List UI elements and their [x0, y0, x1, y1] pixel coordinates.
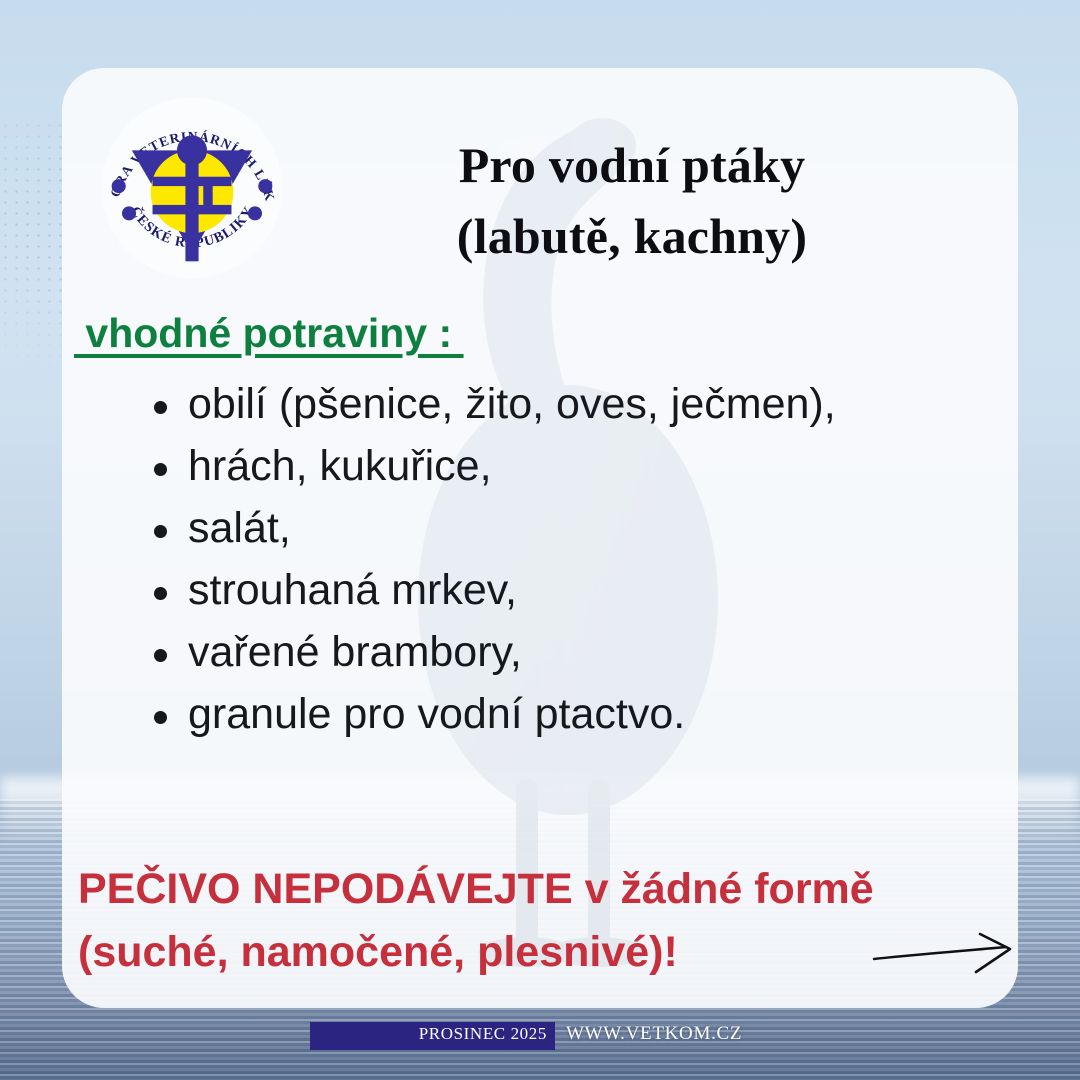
- list-item: hrách, kukuřice,: [102, 435, 982, 497]
- list-item: salát,: [102, 497, 982, 559]
- warning-line-2: (suché, namočené, plesnivé)!: [78, 921, 978, 984]
- section-heading-suitable-foods: vhodné potraviny :: [74, 310, 464, 357]
- list-item: vařené brambory,: [102, 621, 982, 683]
- title-line-2: (labutě, kachny): [312, 201, 952, 272]
- footer-website-url[interactable]: WWW.VETKOM.CZ: [566, 1023, 742, 1045]
- veterinary-chamber-logo-icon: KOMORA VETERINÁRNÍCH LÉKAŘŮ ČESKÉ REPUBL…: [98, 94, 286, 282]
- warning-line-1: PEČIVO NEPODÁVEJTE v žádné formě: [78, 858, 978, 921]
- page-title: Pro vodní ptáky (labutě, kachny): [312, 130, 952, 272]
- suitable-foods-list: obilí (pšenice, žito, oves, ječmen), hrá…: [102, 373, 982, 745]
- warning-text: PEČIVO NEPODÁVEJTE v žádné formě (suché,…: [78, 858, 978, 984]
- footer-date-label: PROSINEC 2025: [419, 1024, 547, 1044]
- content-card: KOMORA VETERINÁRNÍCH LÉKAŘŮ ČESKÉ REPUBL…: [62, 68, 1018, 1008]
- next-slide-arrow-icon[interactable]: [870, 928, 1018, 988]
- poster-canvas: KOMORA VETERINÁRNÍCH LÉKAŘŮ ČESKÉ REPUBL…: [0, 0, 1080, 1080]
- footer: PROSINEC 2025 WWW.VETKOM.CZ: [0, 1020, 1080, 1080]
- footer-date-bar: PROSINEC 2025: [310, 1022, 555, 1050]
- title-line-1: Pro vodní ptáky: [312, 130, 952, 201]
- list-item: strouhaná mrkev,: [102, 559, 982, 621]
- list-item: obilí (pšenice, žito, oves, ječmen),: [102, 373, 982, 435]
- list-item: granule pro vodní ptactvo.: [102, 683, 982, 745]
